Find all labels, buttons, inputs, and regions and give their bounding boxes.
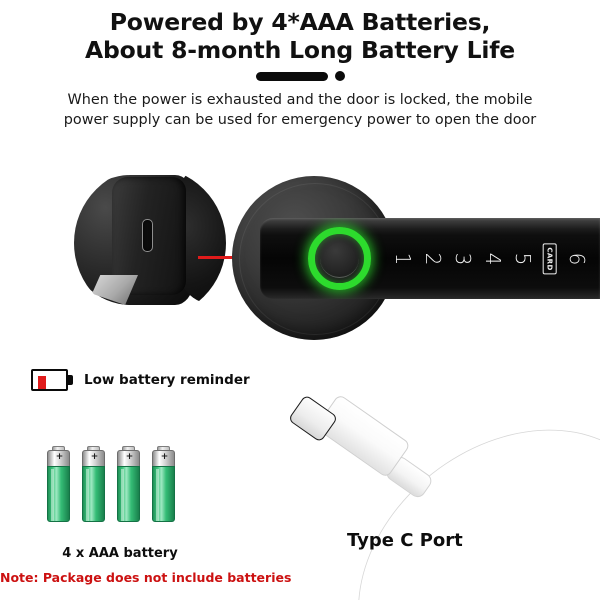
keypad-digit-3: 3 bbox=[453, 244, 473, 274]
battery-terminal-tip bbox=[68, 375, 73, 385]
battery-highlight bbox=[51, 469, 54, 521]
battery-collar: + bbox=[152, 450, 175, 467]
keypad-digit-2: 2 bbox=[423, 244, 443, 274]
keypad-digit-5: 5 bbox=[513, 244, 533, 274]
aaa-battery: + bbox=[152, 446, 175, 522]
divider bbox=[0, 70, 600, 82]
subtitle-line-2: power supply can be used for emergency p… bbox=[0, 110, 600, 130]
aaa-battery: + bbox=[47, 446, 70, 522]
keypad-digit-6: 6 bbox=[567, 244, 587, 274]
battery-highlight bbox=[121, 469, 124, 521]
aaa-battery: + bbox=[117, 446, 140, 522]
smart-lock-product-image: 1 2 3 4 5 CARD 6 7 8 bbox=[232, 176, 600, 342]
battery-body bbox=[47, 466, 70, 522]
battery-plus-icon: + bbox=[83, 453, 106, 462]
divider-dot bbox=[335, 71, 345, 81]
battery-highlight bbox=[86, 469, 89, 521]
usb-port-closeup-inset bbox=[74, 167, 226, 319]
low-battery-label: Low battery reminder bbox=[84, 372, 250, 388]
battery-plus-icon: + bbox=[153, 453, 176, 462]
battery-body bbox=[82, 466, 105, 522]
fingerprint-sensor-button bbox=[320, 239, 359, 278]
battery-collar: + bbox=[82, 450, 105, 467]
battery-body bbox=[152, 466, 175, 522]
heading-block: Powered by 4*AAA Batteries, About 8-mont… bbox=[0, 8, 600, 64]
usb-c-port-icon bbox=[142, 219, 153, 252]
battery-highlight bbox=[156, 469, 159, 521]
low-battery-icon bbox=[31, 369, 73, 391]
lock-handle-bar: 1 2 3 4 5 CARD 6 7 8 bbox=[260, 218, 600, 299]
battery-collar: + bbox=[47, 450, 70, 467]
battery-body bbox=[117, 466, 140, 522]
battery-plus-icon: + bbox=[48, 453, 71, 462]
card-reader-badge: CARD bbox=[538, 252, 562, 266]
subtitle-block: When the power is exhausted and the door… bbox=[0, 90, 600, 130]
keypad: 1 2 3 4 5 CARD 6 7 8 bbox=[388, 218, 600, 299]
low-battery-reminder-row: Low battery reminder bbox=[31, 369, 250, 391]
package-note: Note: Package does not include batteries bbox=[0, 570, 290, 585]
battery-collar: + bbox=[117, 450, 140, 467]
aaa-batteries-group: + + + + bbox=[47, 446, 175, 522]
batteries-caption: 4 x AAA battery bbox=[0, 546, 240, 561]
divider-bar bbox=[256, 72, 328, 81]
usb-c-cable-image: Type C Port bbox=[285, 385, 600, 600]
battery-shell bbox=[31, 369, 68, 391]
fingerprint-sensor-ring bbox=[308, 227, 371, 290]
aaa-battery: + bbox=[82, 446, 105, 522]
cable-label: Type C Port bbox=[347, 530, 463, 551]
battery-plus-icon: + bbox=[118, 453, 141, 462]
keypad-digit-4: 4 bbox=[483, 244, 503, 274]
battery-fill-bar bbox=[38, 376, 46, 389]
subtitle-line-1: When the power is exhausted and the door… bbox=[0, 90, 600, 110]
card-badge-label: CARD bbox=[543, 243, 557, 274]
heading-line-1: Powered by 4*AAA Batteries, bbox=[0, 8, 600, 36]
heading-line-2: About 8-month Long Battery Life bbox=[0, 36, 600, 64]
keypad-digit-1: 1 bbox=[393, 244, 413, 274]
